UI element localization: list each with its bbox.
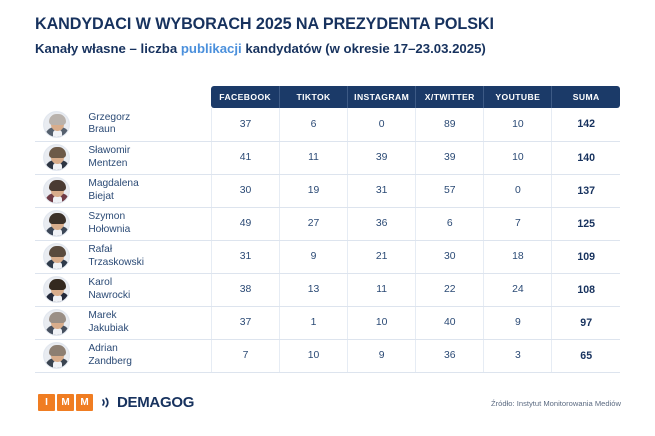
subtitle-post: kandydatów (w okresie 17–23.03.2025) (242, 41, 486, 56)
cell-instagram: 31 (348, 174, 416, 207)
candidate-first-name: Karol (88, 277, 211, 289)
candidate-name: MagdalenaBiejat (78, 174, 211, 207)
candidate-name: KarolNawrocki (78, 273, 211, 306)
candidate-name: SzymonHołownia (78, 207, 211, 240)
cell-twitter: 57 (416, 174, 484, 207)
table-header-row: FACEBOOK TIKTOK INSTAGRAM X/TWITTER YOUT… (35, 86, 620, 108)
cell-youtube: 7 (484, 207, 552, 240)
table-row[interactable]: SławomirMentzen4111393910140 (35, 141, 620, 174)
cell-facebook: 31 (211, 240, 279, 273)
candidate-first-name: Magdalena (88, 178, 211, 190)
cell-facebook: 37 (211, 306, 279, 339)
avatar (43, 276, 70, 303)
avatar (43, 144, 70, 171)
avatar (43, 342, 70, 369)
candidate-first-name: Rafał (88, 244, 211, 256)
column-header-facebook[interactable]: FACEBOOK (211, 86, 279, 108)
table-row[interactable]: KarolNawrocki3813112224108 (35, 273, 620, 306)
cell-instagram: 0 (348, 108, 416, 141)
candidate-last-name: Zandberg (88, 356, 211, 368)
cell-tiktok: 9 (280, 240, 348, 273)
imm-logo: I M M (38, 394, 93, 411)
cell-youtube: 10 (484, 108, 552, 141)
avatar (43, 111, 70, 138)
candidate-first-name: Szymon (88, 211, 211, 223)
cell-tiktok: 27 (280, 207, 348, 240)
cell-tiktok: 11 (280, 141, 348, 174)
avatar-cell (35, 339, 78, 372)
avatar (43, 309, 70, 336)
candidate-last-name: Jakubiak (88, 323, 211, 335)
avatar (43, 243, 70, 270)
cell-twitter: 22 (416, 273, 484, 306)
table-row[interactable]: SzymonHołownia49273667125 (35, 207, 620, 240)
page-title: KANDYDACI W WYBORACH 2025 NA PREZYDENTA … (35, 14, 635, 34)
cell-suma: 142 (552, 108, 620, 141)
cell-facebook: 7 (211, 339, 279, 372)
candidate-last-name: Trzaskowski (88, 257, 211, 269)
cell-facebook: 41 (211, 141, 279, 174)
table-row[interactable]: MagdalenaBiejat301931570137 (35, 174, 620, 207)
candidate-last-name: Hołownia (88, 224, 211, 236)
column-header-twitter[interactable]: X/TWITTER (416, 86, 484, 108)
cell-tiktok: 13 (280, 273, 348, 306)
candidate-name: MarekJakubiak (78, 306, 211, 339)
cell-youtube: 0 (484, 174, 552, 207)
footer: I M M DEMAGOG Źródło: Instytut Monitorow… (0, 394, 655, 418)
column-header-tiktok[interactable]: TIKTOK (280, 86, 348, 108)
cell-tiktok: 1 (280, 306, 348, 339)
candidate-last-name: Nawrocki (88, 290, 211, 302)
candidate-name: AdrianZandberg (78, 339, 211, 372)
cell-instagram: 9 (348, 339, 416, 372)
cell-tiktok: 19 (280, 174, 348, 207)
page-subtitle: Kanały własne – liczba publikacji kandyd… (35, 40, 635, 57)
table-row[interactable]: GrzegorzBraun37608910142 (35, 108, 620, 141)
cell-suma: 108 (552, 273, 620, 306)
cell-twitter: 30 (416, 240, 484, 273)
cell-instagram: 39 (348, 141, 416, 174)
imm-letter-2: M (57, 394, 74, 411)
avatar-cell (35, 273, 78, 306)
source-note: Źródło: Instytut Monitorowania Mediów (491, 399, 621, 408)
candidates-table: FACEBOOK TIKTOK INSTAGRAM X/TWITTER YOUT… (35, 86, 620, 373)
cell-suma: 109 (552, 240, 620, 273)
cell-twitter: 6 (416, 207, 484, 240)
logo-block: I M M DEMAGOG (38, 394, 194, 411)
cell-twitter: 40 (416, 306, 484, 339)
cell-twitter: 89 (416, 108, 484, 141)
sound-wave-icon (101, 396, 114, 409)
imm-letter-3: M (76, 394, 93, 411)
cell-suma: 97 (552, 306, 620, 339)
cell-facebook: 49 (211, 207, 279, 240)
cell-instagram: 11 (348, 273, 416, 306)
candidate-first-name: Adrian (88, 343, 211, 355)
cell-twitter: 39 (416, 141, 484, 174)
cell-suma: 137 (552, 174, 620, 207)
table-row[interactable]: AdrianZandberg710936365 (35, 339, 620, 372)
avatar-cell (35, 240, 78, 273)
column-header-instagram[interactable]: INSTAGRAM (348, 86, 416, 108)
table-row[interactable]: RafałTrzaskowski319213018109 (35, 240, 620, 273)
cell-youtube: 9 (484, 306, 552, 339)
column-header-suma[interactable]: SUMA (552, 86, 620, 108)
avatar-cell (35, 108, 78, 141)
cell-suma: 65 (552, 339, 620, 372)
candidate-name: RafałTrzaskowski (78, 240, 211, 273)
cell-suma: 125 (552, 207, 620, 240)
avatar-cell (35, 207, 78, 240)
candidate-last-name: Biejat (88, 191, 211, 203)
cell-twitter: 36 (416, 339, 484, 372)
cell-instagram: 21 (348, 240, 416, 273)
candidate-first-name: Marek (88, 310, 211, 322)
cell-tiktok: 6 (280, 108, 348, 141)
cell-facebook: 30 (211, 174, 279, 207)
avatar-cell (35, 306, 78, 339)
candidate-name: SławomirMentzen (78, 141, 211, 174)
candidate-first-name: Grzegorz (88, 112, 211, 124)
avatar (43, 177, 70, 204)
imm-letter-1: I (38, 394, 55, 411)
cell-youtube: 10 (484, 141, 552, 174)
cell-youtube: 3 (484, 339, 552, 372)
cell-facebook: 38 (211, 273, 279, 306)
column-header-youtube[interactable]: YOUTUBE (484, 86, 552, 108)
cell-instagram: 36 (348, 207, 416, 240)
avatar (43, 210, 70, 237)
chart-header: KANDYDACI W WYBORACH 2025 NA PREZYDENTA … (35, 14, 635, 57)
demagog-logo: DEMAGOG (101, 394, 194, 411)
subtitle-pre: Kanały własne – liczba (35, 41, 181, 56)
candidate-last-name: Mentzen (88, 158, 211, 170)
cell-suma: 140 (552, 141, 620, 174)
avatar-cell (35, 174, 78, 207)
demagog-label: DEMAGOG (117, 394, 194, 411)
candidate-last-name: Braun (88, 124, 211, 136)
cell-facebook: 37 (211, 108, 279, 141)
avatar-cell (35, 141, 78, 174)
candidate-first-name: Sławomir (88, 145, 211, 157)
header-avatar-spacer (35, 86, 78, 108)
table-head: FACEBOOK TIKTOK INSTAGRAM X/TWITTER YOUT… (35, 86, 620, 108)
cell-youtube: 24 (484, 273, 552, 306)
subtitle-accent: publikacji (181, 41, 242, 56)
candidate-name: GrzegorzBraun (78, 108, 211, 141)
data-table-container: FACEBOOK TIKTOK INSTAGRAM X/TWITTER YOUT… (35, 86, 620, 373)
cell-instagram: 10 (348, 306, 416, 339)
cell-youtube: 18 (484, 240, 552, 273)
table-body: GrzegorzBraun37608910142SławomirMentzen4… (35, 108, 620, 372)
table-row[interactable]: MarekJakubiak3711040997 (35, 306, 620, 339)
header-name-spacer (78, 86, 211, 108)
cell-tiktok: 10 (280, 339, 348, 372)
